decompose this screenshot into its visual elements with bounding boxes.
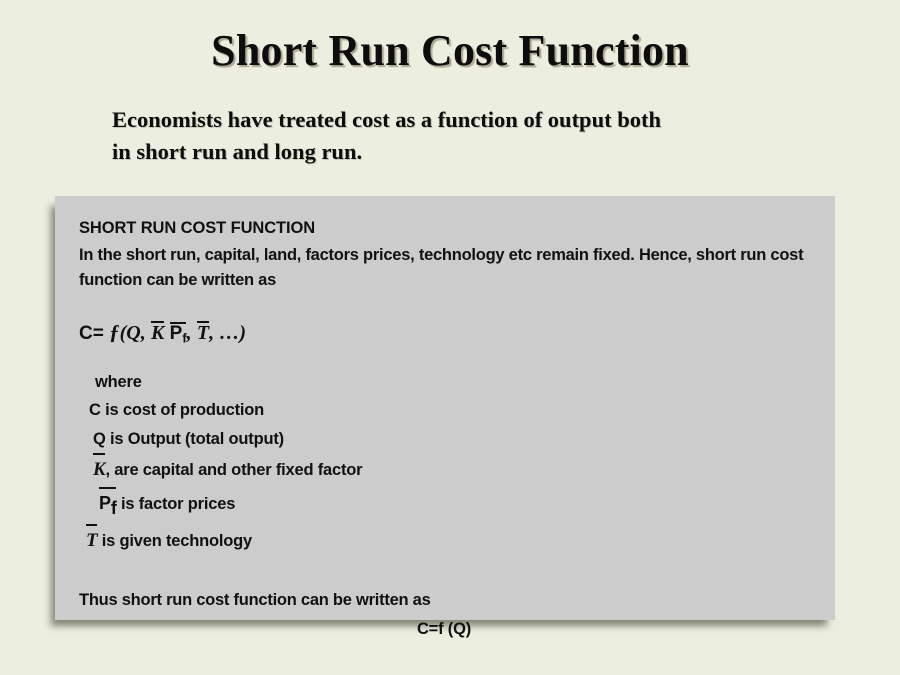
definition-cost: C is cost of production: [79, 396, 817, 424]
definition-where-label: where: [79, 368, 817, 396]
definition-capital: K, are capital and other fixed factor: [79, 453, 817, 487]
definition-technology-text: is given technology: [97, 532, 252, 550]
formula-arg-factor-prices-subscript: f: [182, 331, 186, 346]
definition-factor-prices-symbol: Pf: [99, 487, 117, 524]
subtitle-line-1: Economists have treated cost as a functi…: [112, 107, 661, 132]
panel-paragraph: In the short run, capital, land, factors…: [79, 243, 809, 294]
closing-block: Thus short run cost function can be writ…: [79, 587, 817, 642]
definition-factor-prices-text: is factor prices: [117, 495, 236, 513]
definition-output: Q is Output (total output): [79, 425, 817, 453]
definition-list: where C is cost of production Q is Outpu…: [79, 368, 817, 557]
page-title: Short Run Cost Function: [0, 28, 900, 74]
definition-technology-symbol: T: [86, 524, 97, 558]
formula-arg-factor-prices: Pf: [170, 322, 187, 346]
formula-arg-factor-prices-base: P: [170, 323, 183, 344]
definition-capital-text: , are capital and other fixed factor: [105, 461, 362, 479]
definition-technology: T is given technology: [79, 524, 817, 558]
formula-arg-output: Q: [126, 322, 140, 344]
formula-ellipsis: …: [219, 322, 239, 344]
definition-capital-symbol: K: [93, 453, 105, 487]
formula-close-paren: ): [239, 322, 246, 344]
formula-function-symbol: ƒ: [109, 320, 120, 344]
formula-arg-capital: K: [151, 321, 164, 345]
formula-arg-technology: T: [197, 321, 209, 345]
closing-formula: C=f (Q): [79, 616, 809, 642]
cost-function-formula: C= ƒ(Q, K Pf, T, …): [79, 320, 817, 346]
definition-factor-prices: Pf is factor prices: [79, 487, 817, 524]
formula-lhs: C=: [79, 323, 104, 344]
definition-factor-prices-base: P: [99, 493, 111, 513]
closing-text: Thus short run cost function can be writ…: [79, 587, 817, 613]
slide-subtitle: Economists have treated cost as a functi…: [112, 104, 758, 168]
definition-factor-prices-subscript: f: [111, 498, 117, 518]
panel-heading: SHORT RUN COST FUNCTION: [79, 216, 817, 242]
content-panel: SHORT RUN COST FUNCTION In the short run…: [55, 196, 835, 620]
panel-inner: SHORT RUN COST FUNCTION In the short run…: [79, 216, 817, 642]
subtitle-line-2: in short run and long run.: [112, 136, 758, 168]
